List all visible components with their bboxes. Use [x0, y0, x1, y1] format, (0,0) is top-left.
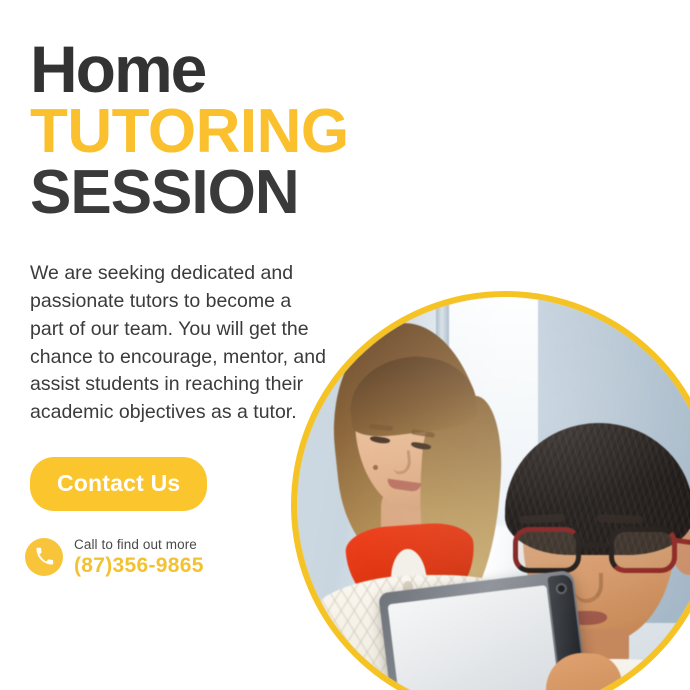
- tutor-mole: [373, 465, 378, 470]
- headline-line-3: SESSION: [30, 164, 360, 223]
- poster-canvas: Home TUTORING SESSION We are seeking ded…: [0, 0, 690, 690]
- content-column: Home TUTORING SESSION We are seeking ded…: [0, 0, 360, 577]
- body-paragraph: We are seeking dedicated and passionate …: [0, 222, 330, 426]
- tablet-screen: [388, 585, 564, 690]
- contact-phone-number[interactable]: (87)356-9865: [74, 554, 204, 578]
- headline-line-1: Home: [30, 38, 360, 101]
- headline-line-2: TUTORING: [30, 103, 360, 162]
- student-glasses: [513, 527, 677, 573]
- phone-icon: [25, 538, 63, 576]
- student-eyebrow-right: [597, 514, 643, 524]
- student-glasses-lens-right: [609, 527, 677, 573]
- student-glasses-bridge: [581, 543, 609, 548]
- page-title: Home TUTORING SESSION: [0, 0, 360, 222]
- contact-info[interactable]: Call to find out more (87)356-9865: [25, 537, 360, 578]
- contact-us-button[interactable]: Contact Us: [30, 457, 207, 511]
- contact-label: Call to find out more: [74, 537, 204, 552]
- student-glasses-lens-left: [513, 527, 581, 573]
- contact-text-group: Call to find out more (87)356-9865: [74, 537, 204, 578]
